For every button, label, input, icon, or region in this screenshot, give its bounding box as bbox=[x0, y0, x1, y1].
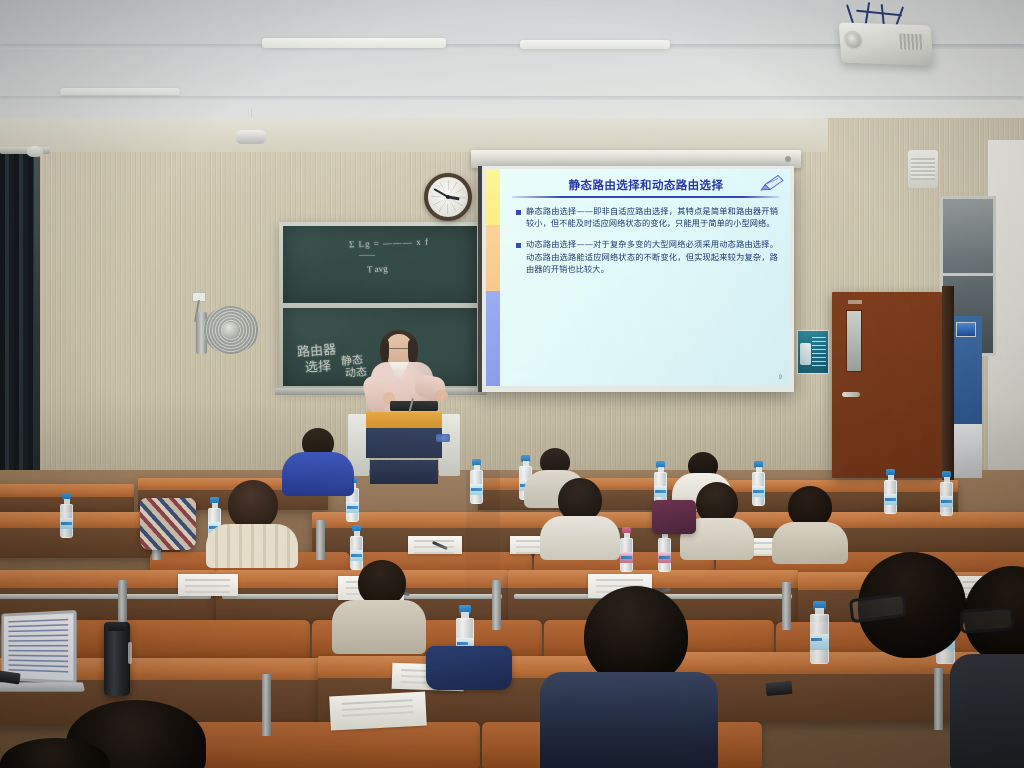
student-head bbox=[584, 586, 688, 686]
slide-sidebar-orange bbox=[486, 225, 500, 290]
desk-leg bbox=[262, 674, 271, 736]
student-plaid-shirt bbox=[206, 480, 300, 562]
backpack bbox=[426, 646, 512, 690]
poster-text-lines bbox=[812, 337, 826, 367]
student-torso bbox=[332, 600, 426, 654]
slide-sidebar-blue bbox=[486, 291, 500, 386]
wall-camera bbox=[27, 146, 43, 157]
student-bottom-left-edge bbox=[0, 738, 110, 768]
instructor-glasses-icon bbox=[386, 348, 412, 354]
laptop-keyboard[interactable] bbox=[0, 682, 85, 691]
presentation-slide: 静态路由选择和动态路由选择 静态路由选择——即非自适应路由选择，其特点是简单和路… bbox=[486, 169, 790, 386]
slide-bullet-text: 动态路由选择——对于复杂多变的大型网络必须采用动态路由选择。动态路由选路能适应网… bbox=[526, 238, 778, 275]
water-bottle bbox=[884, 470, 897, 514]
black-thermos bbox=[104, 622, 130, 696]
bottle-label bbox=[346, 502, 359, 513]
projector-lens-icon bbox=[843, 30, 863, 50]
student-far-right bbox=[964, 566, 1024, 768]
door-handle-icon[interactable] bbox=[842, 392, 860, 397]
lectern bbox=[348, 410, 460, 484]
water-bottle bbox=[940, 472, 953, 516]
student-head bbox=[228, 480, 278, 530]
student-row2-center bbox=[540, 478, 622, 558]
air-conditioner bbox=[908, 150, 938, 188]
slide-bullet-text: 静态路由选择——即非自适应路由选择，其特点是简单和路由器开销较小，但不能及时适应… bbox=[526, 205, 778, 230]
student-torso bbox=[206, 524, 298, 568]
student-right-beige bbox=[772, 486, 850, 560]
bottle-label bbox=[60, 518, 73, 529]
projection-screen: 静态路由选择和动态路由选择 静态路由选择——即非自适应路由选择，其特点是简单和路… bbox=[478, 166, 794, 392]
equipment-display-screen bbox=[956, 322, 976, 337]
student-torso bbox=[950, 654, 1024, 768]
laptop-document-content bbox=[8, 619, 68, 676]
ceiling-light bbox=[520, 40, 670, 49]
classroom-scene: Σ Lg = ——— x f —— T avg 路由器 选择 静态 动态 静态路… bbox=[0, 0, 1024, 768]
chalk-writing: 选择 bbox=[305, 355, 332, 375]
chalk-writing: —— bbox=[359, 250, 375, 259]
water-bottle bbox=[60, 494, 73, 538]
ceiling-light bbox=[262, 38, 446, 48]
door-plate bbox=[848, 300, 862, 304]
paper-sheet bbox=[178, 574, 238, 596]
open-laptop[interactable] bbox=[0, 612, 84, 702]
student-foreground-navy bbox=[540, 586, 718, 768]
bench-row3-left bbox=[60, 620, 310, 660]
slide-body: 静态路由选择和动态路由选择 静态路由选择——即非自适应路由选择，其特点是简单和路… bbox=[500, 169, 790, 386]
paper-sheet bbox=[329, 692, 427, 731]
wall-fan-hub bbox=[222, 322, 239, 338]
bottle-label bbox=[470, 484, 483, 495]
slide-sidebar bbox=[486, 169, 500, 386]
slide-bullet-item: 静态路由选择——即非自适应路由选择，其特点是简单和路由器开销较小，但不能及时适应… bbox=[516, 205, 778, 230]
podium-lower-panel bbox=[370, 460, 438, 484]
door-window bbox=[846, 310, 862, 372]
slide-title: 静态路由选择和动态路由选择 bbox=[510, 175, 782, 196]
square-bullet-icon bbox=[516, 210, 521, 215]
bottle-label bbox=[654, 486, 667, 497]
poster-image bbox=[800, 343, 811, 365]
smartphone[interactable] bbox=[765, 681, 792, 696]
ceiling-light bbox=[60, 88, 180, 95]
handbag bbox=[652, 500, 696, 534]
eyeglasses-icon bbox=[959, 606, 1015, 634]
corridor-equipment bbox=[952, 316, 982, 424]
student-torso bbox=[540, 516, 620, 560]
student-row3-center bbox=[332, 560, 428, 652]
podium-logo bbox=[436, 434, 450, 442]
slide-bullet-item: 动态路由选择——对于复杂多变的大型网络必须采用动态路由选择。动态路由选路能适应网… bbox=[516, 238, 778, 275]
bottle-label bbox=[940, 496, 953, 507]
projector-vent bbox=[899, 33, 924, 50]
backpack bbox=[140, 498, 196, 550]
instructor-hand-right bbox=[435, 390, 448, 401]
ceiling-fan-hub bbox=[236, 130, 266, 144]
door-frame bbox=[942, 286, 954, 480]
square-bullet-icon bbox=[516, 243, 521, 248]
ceiling-projector bbox=[839, 22, 934, 65]
wall-poster bbox=[797, 330, 829, 374]
corridor-cabinet bbox=[952, 424, 982, 478]
classroom-door[interactable] bbox=[832, 292, 942, 478]
water-bottle bbox=[470, 460, 483, 504]
ceiling-seam bbox=[0, 96, 1024, 100]
wall-clock bbox=[424, 173, 472, 221]
clock-center-pin bbox=[446, 195, 450, 199]
podium-side-panel bbox=[439, 414, 460, 476]
student-torso bbox=[540, 672, 718, 768]
water-bottle-pink bbox=[620, 522, 635, 572]
blackboard-upper-panel: Σ Lg = ——— x f —— T avg bbox=[283, 226, 477, 303]
chalk-writing: T avg bbox=[367, 263, 388, 274]
desk-leg bbox=[782, 582, 791, 630]
bottle-label bbox=[884, 494, 897, 505]
podium-front-panel bbox=[366, 428, 442, 458]
slide-title-underline bbox=[512, 196, 780, 198]
paper-sheet bbox=[408, 536, 462, 554]
podium-equipment bbox=[390, 401, 438, 411]
podium-top-panel bbox=[366, 412, 442, 428]
pen-and-paper-icon bbox=[758, 173, 784, 191]
desk-leg bbox=[316, 520, 325, 560]
chalk-writing: Σ Lg = ——— x f bbox=[349, 237, 429, 250]
slide-bullet-list: 静态路由选择——即非自适应路由选择，其特点是简单和路由器开销较小，但不能及时适应… bbox=[510, 205, 782, 276]
bottle-label bbox=[658, 552, 671, 563]
student-head bbox=[0, 738, 110, 768]
slide-page-number: 9 bbox=[779, 375, 782, 381]
slide-sidebar-yellow bbox=[486, 169, 500, 225]
